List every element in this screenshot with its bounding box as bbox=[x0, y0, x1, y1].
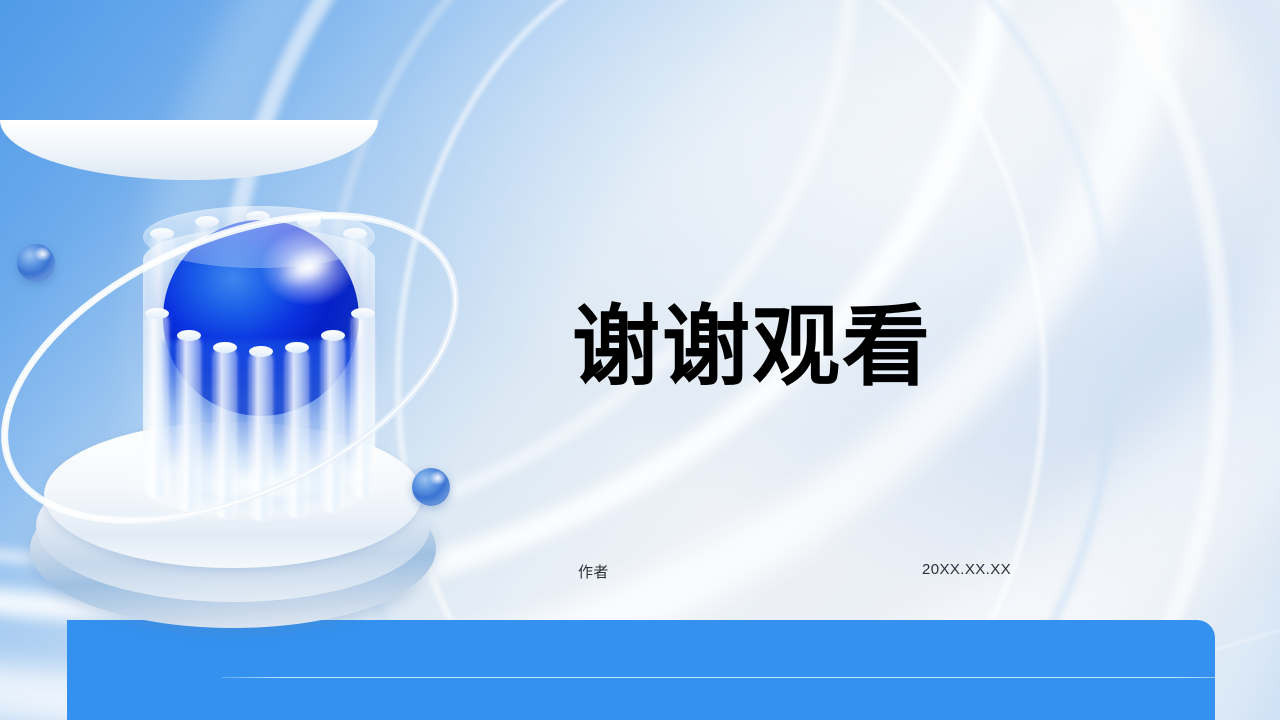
author-label: 作者 bbox=[578, 561, 609, 582]
banner-divider-line bbox=[222, 677, 1235, 678]
orbit-node-left-icon bbox=[17, 244, 55, 282]
page-title: 谢谢观看 bbox=[572, 300, 932, 393]
orbit-ellipse-gloss bbox=[0, 153, 501, 582]
orbit-node-right-icon bbox=[412, 468, 450, 506]
date-label: 20XX.XX.XX bbox=[922, 561, 1011, 578]
orbit-ellipse bbox=[0, 153, 501, 582]
presentation-slide: 谢谢观看 作者 20XX.XX.XX bbox=[0, 0, 1280, 720]
hero-illustration bbox=[0, 120, 490, 660]
orbit-ring-icon bbox=[0, 110, 520, 670]
